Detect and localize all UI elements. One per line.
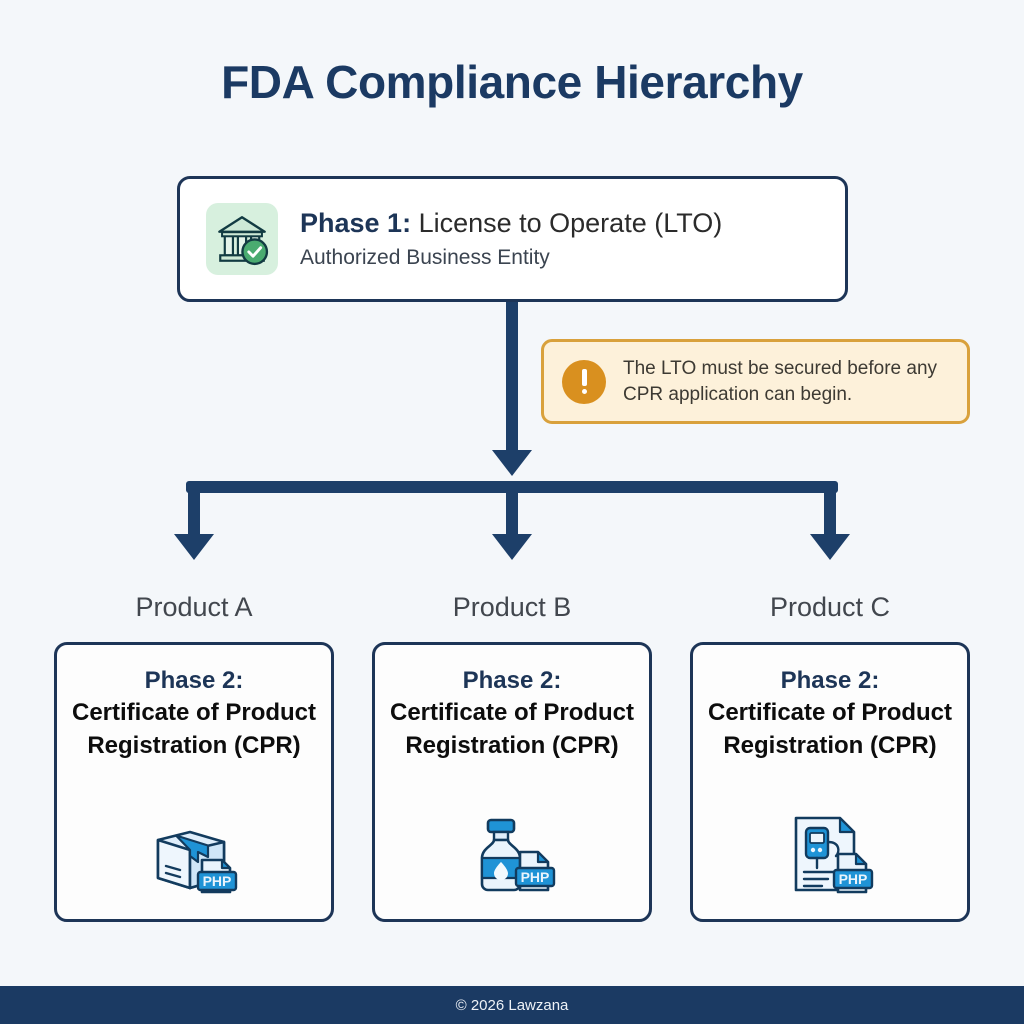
diagram-canvas: FDA Compliance Hierarchy Phase 1: Licens… — [0, 0, 1024, 1024]
warning-text: The LTO must be secured before any CPR a… — [623, 356, 951, 408]
card-phase-label-c: Phase 2: — [781, 665, 880, 697]
phase1-title-accent: Phase 1: — [300, 208, 411, 238]
product-label-a: Product A — [54, 592, 334, 623]
bottle-php-document-icon: PHP — [464, 812, 560, 901]
phase1-title: Phase 1: License to Operate (LTO) — [300, 208, 722, 240]
phase2-card-product-c[interactable]: Phase 2: Certificate of Product Registra… — [690, 642, 970, 922]
card-title-a: Certificate of Product Registration (CPR… — [69, 697, 319, 762]
medical-device-document-php-icon: PHP — [782, 812, 878, 901]
footer-copyright: © 2026 Lawzana — [456, 997, 569, 1014]
svg-text:PHP: PHP — [203, 873, 232, 889]
connector-stem-main — [506, 302, 518, 452]
phase1-text-block: Phase 1: License to Operate (LTO) Author… — [300, 208, 722, 271]
arrowhead-product-c — [810, 534, 850, 560]
card-title-b: Certificate of Product Registration (CPR… — [387, 697, 637, 762]
product-label-b: Product B — [372, 592, 652, 623]
svg-text:PHP: PHP — [839, 871, 868, 887]
page-title: FDA Compliance Hierarchy — [0, 55, 1024, 109]
exclamation-circle-icon — [562, 360, 606, 404]
package-box-php-document-icon: PHP — [146, 812, 242, 901]
connector-drop-product-c — [824, 487, 836, 537]
phase1-subtitle: Authorized Business Entity — [300, 246, 722, 270]
connector-drop-product-a — [188, 487, 200, 537]
arrowhead-product-b — [492, 534, 532, 560]
card-title-c: Certificate of Product Registration (CPR… — [705, 697, 955, 762]
product-label-c: Product C — [690, 592, 970, 623]
phase2-card-product-b[interactable]: Phase 2: Certificate of Product Registra… — [372, 642, 652, 922]
svg-text:PHP: PHP — [521, 869, 550, 885]
card-phase-label-b: Phase 2: — [463, 665, 562, 697]
arrowhead-main — [492, 450, 532, 476]
warning-callout: The LTO must be secured before any CPR a… — [541, 339, 970, 424]
connector-drop-product-b — [506, 487, 518, 537]
phase1-title-rest: License to Operate (LTO) — [411, 208, 722, 238]
card-phase-label-a: Phase 2: — [145, 665, 244, 697]
arrowhead-product-a — [174, 534, 214, 560]
phase2-card-product-a[interactable]: Phase 2: Certificate of Product Registra… — [54, 642, 334, 922]
footer-bar: © 2026 Lawzana — [0, 986, 1024, 1024]
phase1-node[interactable]: Phase 1: License to Operate (LTO) Author… — [177, 176, 848, 302]
bank-building-verified-icon — [206, 203, 278, 275]
